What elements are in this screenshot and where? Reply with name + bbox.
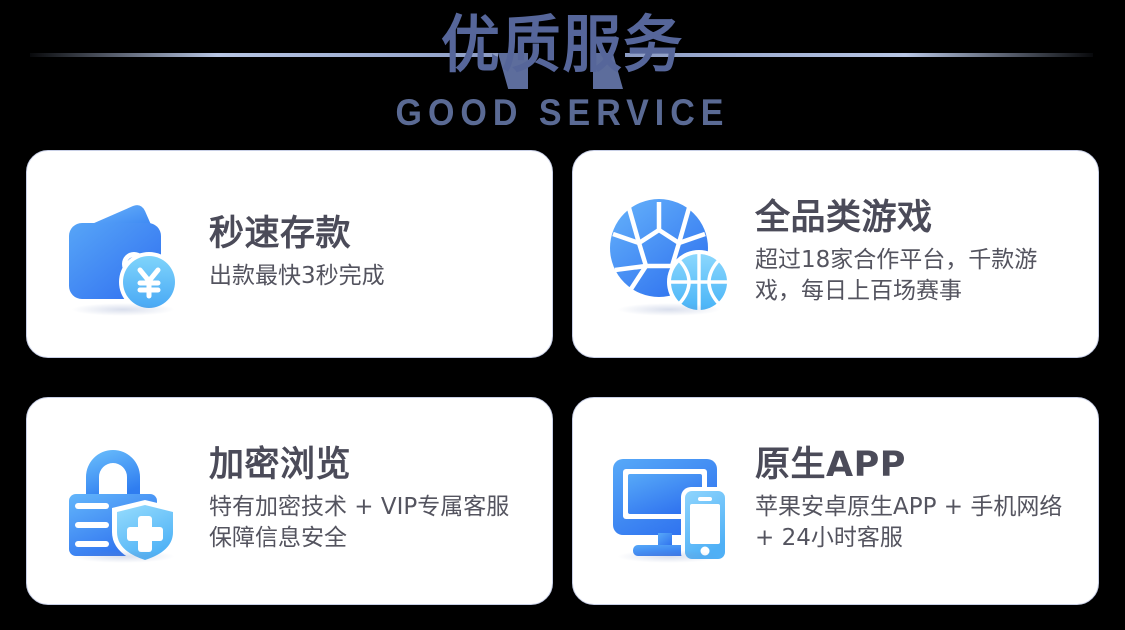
icon-shadow <box>71 303 175 316</box>
card-title: 加密浏览 <box>209 447 530 485</box>
good-service-panel: 优质服务 GOOD SERVICE <box>0 0 1125 630</box>
section-header: 优质服务 GOOD SERVICE <box>0 0 1125 140</box>
feature-card-games[interactable]: 全品类游戏 超过18家合作平台，千款游戏，每日上百场赛事 <box>572 150 1099 358</box>
feature-card-native-app[interactable]: 原生APP 苹果安卓原生APP + 手机网络 + 24小时客服 <box>572 397 1099 605</box>
card-description: 苹果安卓原生APP + 手机网络 + 24小时客服 <box>755 492 1076 555</box>
card-title: 全品类游戏 <box>755 200 1076 238</box>
icon-shadow <box>617 303 721 316</box>
card-description: 出款最快3秒完成 <box>209 261 530 293</box>
lock-shield-icon <box>61 437 189 565</box>
card-text: 原生APP 苹果安卓原生APP + 手机网络 + 24小时客服 <box>755 447 1076 555</box>
feature-card-deposit[interactable]: 秒速存款 出款最快3秒完成 <box>26 150 553 358</box>
feature-card-grid: 秒速存款 出款最快3秒完成 <box>26 150 1099 605</box>
card-text: 秒速存款 出款最快3秒完成 <box>209 216 530 293</box>
card-title: 秒速存款 <box>209 216 530 254</box>
card-description: 特有加密技术 + VIP专属客服保障信息安全 <box>209 492 530 555</box>
icon-shadow <box>617 550 721 563</box>
feature-card-encryption[interactable]: 加密浏览 特有加密技术 + VIP专属客服保障信息安全 <box>26 397 553 605</box>
page-title: 优质服务 <box>28 14 1097 76</box>
card-title: 原生APP <box>755 447 1076 485</box>
icon-shadow <box>71 550 175 563</box>
wallet-yen-icon <box>61 190 189 318</box>
card-text: 加密浏览 特有加密技术 + VIP专属客服保障信息安全 <box>209 447 530 555</box>
card-text: 全品类游戏 超过18家合作平台，千款游戏，每日上百场赛事 <box>755 200 1076 308</box>
monitor-phone-icon <box>607 437 735 565</box>
soccer-basketball-icon <box>607 190 735 318</box>
page-subtitle: GOOD SERVICE <box>0 95 1125 132</box>
card-description: 超过18家合作平台，千款游戏，每日上百场赛事 <box>755 245 1076 308</box>
